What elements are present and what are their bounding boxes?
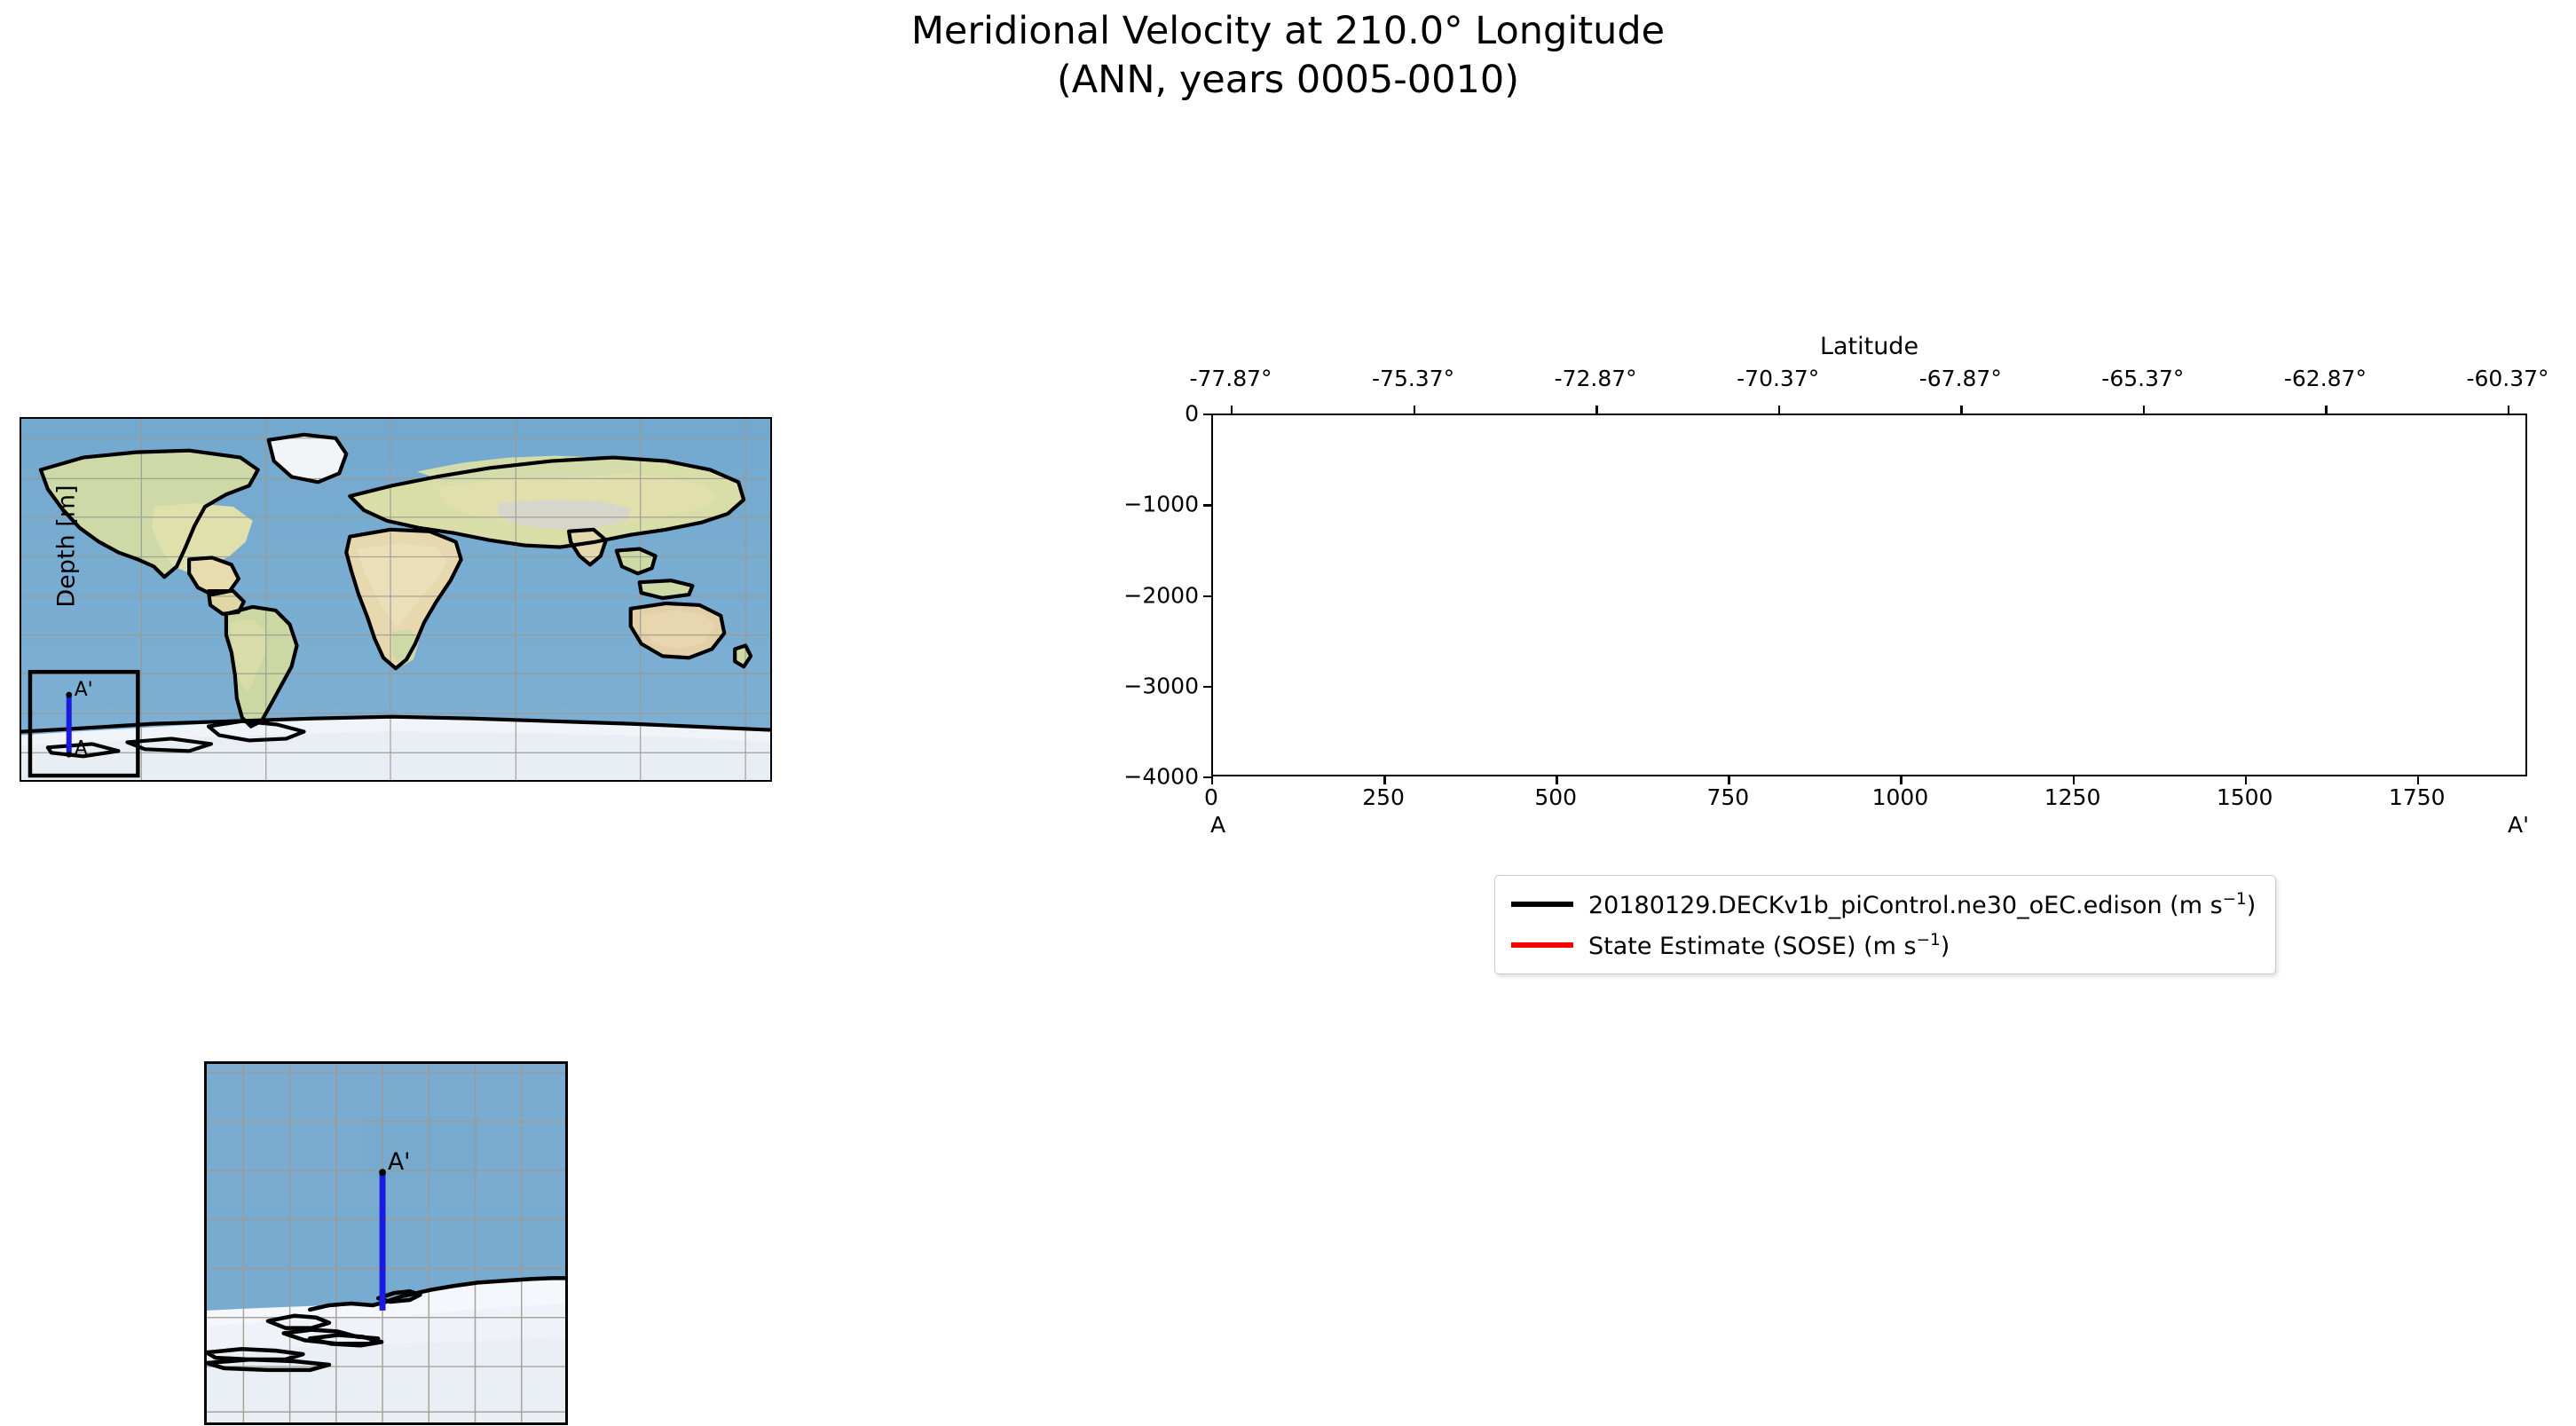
bottom-tick-mark <box>1900 776 1902 784</box>
top-tick-label: -65.37° <box>2101 366 2184 391</box>
legend-swatch-model <box>1511 902 1573 907</box>
bottom-tick-mark <box>1211 776 1213 784</box>
top-tick-mark <box>1414 406 1415 414</box>
legend-label-obs: State Estimate (SOSE) (m s−1) <box>1588 931 1950 960</box>
bottom-tick-mark <box>1383 776 1385 784</box>
legend-label-model: 20180129.DECKv1b_piControl.ne30_oEC.edis… <box>1588 890 2256 919</box>
y-tick-mark <box>1203 776 1211 778</box>
bottom-tick-label: 1000 <box>1872 784 1929 810</box>
page-title-line1: Meridional Velocity at 210.0° Longitude <box>0 7 2576 56</box>
y-axis-label: Depth [m] <box>53 449 81 644</box>
y-tick-label: −3000 <box>1123 673 1199 698</box>
top-tick-label: -60.37° <box>2466 366 2548 391</box>
legend-entry-obs[interactable]: State Estimate (SOSE) (m s−1) <box>1511 925 2256 965</box>
transect-zoom-map[interactable]: A' <box>204 1061 568 1425</box>
svg-text:A': A' <box>75 679 93 701</box>
svg-text:A': A' <box>388 1148 411 1176</box>
bottom-tick-label: 250 <box>1362 784 1405 810</box>
bottom-tick-label: 1250 <box>2044 784 2101 810</box>
top-tick-label: -72.87° <box>1555 366 1637 391</box>
bottom-tick-label: 500 <box>1534 784 1577 810</box>
y-tick-mark <box>1203 504 1211 506</box>
y-tick-mark <box>1203 686 1211 688</box>
legend-swatch-obs <box>1511 942 1573 948</box>
y-tick-mark <box>1203 414 1211 415</box>
cross-section-legend[interactable]: 20180129.DECKv1b_piControl.ne30_oEC.edis… <box>1494 875 2276 974</box>
transect-start-label: A <box>1210 812 1225 838</box>
bottom-tick-mark <box>1556 776 1557 784</box>
y-tick-label: −2000 <box>1123 582 1199 608</box>
cross-section-frame <box>1211 414 2527 776</box>
transect-end-label: A' <box>2508 812 2529 838</box>
top-axis-label: Latitude <box>1211 333 2527 360</box>
world-map-inset[interactable]: A' A <box>20 417 772 782</box>
y-tick-label: −1000 <box>1123 492 1199 517</box>
top-tick-mark <box>2143 406 2145 414</box>
y-tick-label: −4000 <box>1123 764 1199 790</box>
world-map-graphic: A' A <box>21 419 770 780</box>
top-tick-label: -62.87° <box>2284 366 2367 391</box>
top-tick-mark <box>1231 406 1233 414</box>
page-title: Meridional Velocity at 210.0° Longitude … <box>0 7 2576 105</box>
bottom-tick-label: 0 <box>1204 784 1218 810</box>
y-tick-label: 0 <box>1185 401 1199 427</box>
bottom-tick-label: 1750 <box>2389 784 2446 810</box>
bottom-tick-mark <box>2245 776 2247 784</box>
bottom-tick-label: 750 <box>1706 784 1749 810</box>
top-tick-label: -70.37° <box>1737 366 1819 391</box>
transect-zoom-map-graphic: A' <box>207 1064 565 1422</box>
cross-section-plot[interactable]: 0.0 0.0 0.0 0.0 0.0 0.0 0.0 0.0 0.0 0.0 … <box>1211 414 2527 776</box>
svg-text:A: A <box>75 737 88 760</box>
bottom-tick-mark <box>2073 776 2075 784</box>
bottom-tick-mark <box>1728 776 1729 784</box>
page-title-line2: (ANN, years 0005-0010) <box>0 56 2576 105</box>
bottom-tick-label: 1500 <box>2217 784 2273 810</box>
bottom-tick-mark <box>2417 776 2419 784</box>
y-tick-mark <box>1203 595 1211 597</box>
top-tick-mark <box>1778 406 1780 414</box>
top-tick-mark <box>2508 406 2509 414</box>
top-tick-label: -67.87° <box>1919 366 2002 391</box>
top-tick-mark <box>2325 406 2327 414</box>
top-tick-label: -75.37° <box>1372 366 1454 391</box>
top-tick-label: -77.87° <box>1189 366 1272 391</box>
top-tick-mark <box>1595 406 1597 414</box>
legend-entry-model[interactable]: 20180129.DECKv1b_piControl.ne30_oEC.edis… <box>1511 884 2256 925</box>
top-tick-mark <box>1960 406 1962 414</box>
